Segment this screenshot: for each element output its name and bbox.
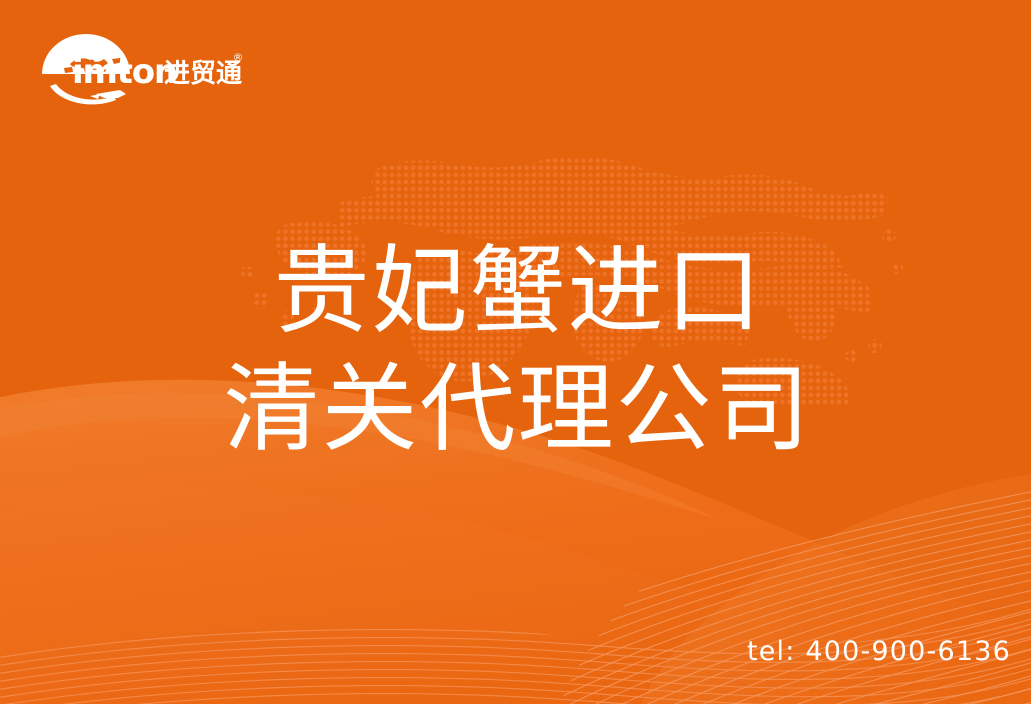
registered-trademark-icon: ® [233,51,244,64]
promotional-banner: imton 进贸通 ® 贵妃蟹进口 清关代理公司 tel: 400-900-61… [0,0,1031,704]
headline-block: 贵妃蟹进口 清关代理公司 [0,232,1031,468]
headline-line-2: 清关代理公司 [0,350,1031,468]
logo-latin-text: imton [72,52,177,92]
telephone-text[interactable]: tel: 400-900-6136 [747,636,1011,668]
logo-chinese-text: 进贸通 [164,59,242,89]
headline-line-1: 贵妃蟹进口 [0,232,1031,350]
company-logo[interactable]: imton 进贸通 ® [34,28,244,106]
logo-wordmark: imton 进贸通 ® [72,48,244,94]
